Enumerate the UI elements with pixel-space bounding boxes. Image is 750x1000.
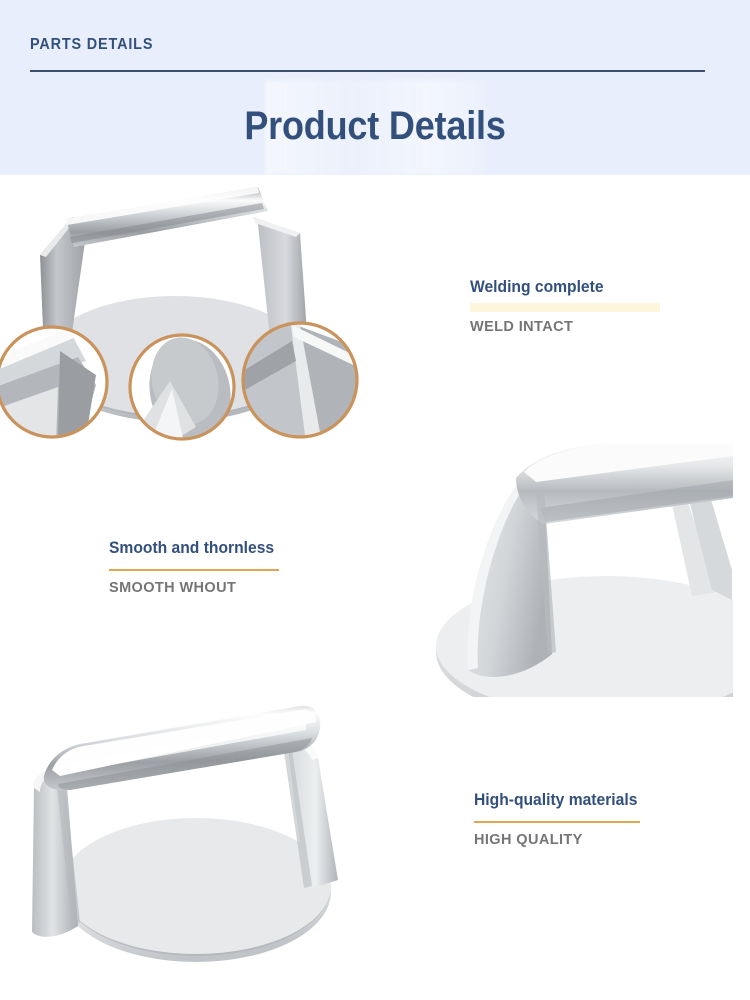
feature-caption-welding: Welding complete WELD INTACT (470, 277, 660, 335)
page-title: Product Details (38, 104, 713, 149)
feature-caption-smooth: Smooth and thornless SMOOTH WHOUT (109, 538, 279, 596)
feature-rule (474, 821, 640, 823)
eyebrow-label: PARTS DETAILS (30, 36, 153, 54)
feature-caption-quality: High-quality materials HIGH QUALITY (474, 790, 640, 848)
burger-press-full-product-photo (0, 690, 368, 1000)
feature-rule (470, 303, 660, 312)
feature-subtitle: WELD INTACT (470, 319, 660, 335)
feature-title: High-quality materials (474, 790, 627, 810)
feature-rule (109, 569, 279, 571)
feature-title: Smooth and thornless (109, 538, 265, 558)
feature-title: Welding complete (470, 277, 645, 297)
feature-subtitle: HIGH QUALITY (474, 832, 640, 848)
header-divider (30, 70, 705, 72)
burger-press-main-photo (0, 175, 365, 443)
page-header: PARTS DETAILS Product Details (0, 0, 750, 175)
burger-press-handle-closeup-photo (416, 440, 733, 697)
feature-subtitle: SMOOTH WHOUT (109, 580, 279, 596)
